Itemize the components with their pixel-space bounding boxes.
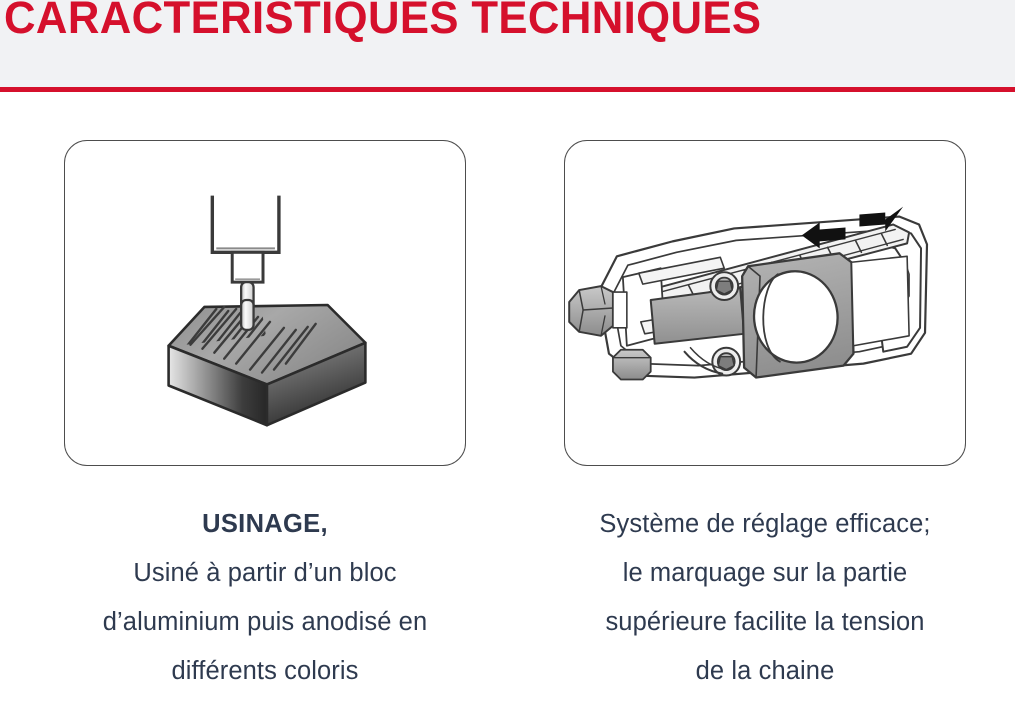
machining-caption-line-2: d’aluminium puis anodisé en [64, 598, 466, 647]
adjustment-caption: Système de réglage efficace; le marquage… [564, 500, 966, 696]
page-header: CARACTERÍSTIQUES TECHNIQUES [0, 0, 1015, 87]
machining-caption-heading: USINAGE, [64, 500, 466, 549]
machining-caption-line-3: différents coloris [64, 647, 466, 696]
cnc-milling-tool-on-aluminium-block-icon [65, 141, 465, 465]
adjustment-card [564, 140, 966, 466]
adjustment-caption-line-1: Système de réglage efficace; [564, 500, 966, 549]
header-divider [0, 87, 1015, 92]
adjustment-caption-line-3: supérieure facilite la tension [564, 598, 966, 647]
machining-card [64, 140, 466, 466]
machining-caption-line-1: Usiné à partir d’un bloc [64, 549, 466, 598]
adjustment-caption-line-2: le marquage sur la partie [564, 549, 966, 598]
machining-caption: USINAGE, Usiné à partir d’un bloc d’alum… [64, 500, 466, 696]
chain-tensioner-adjuster-icon [565, 141, 965, 465]
page-title: CARACTERÍSTIQUES TECHNIQUES [4, 0, 761, 45]
adjustment-caption-line-4: de la chaine [564, 647, 966, 696]
